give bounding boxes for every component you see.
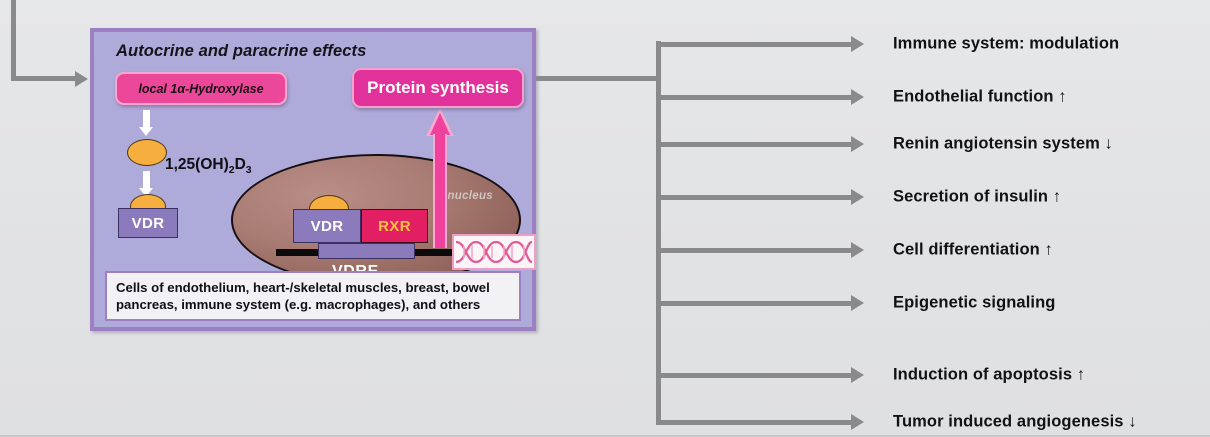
effect-branch-line [656, 142, 852, 147]
effect-branch-arrowhead [851, 136, 864, 152]
effect-branch-arrowhead [851, 414, 864, 430]
effect-branch-line [656, 420, 852, 425]
effect-label-5: Cell differentiation ↑ [893, 241, 1053, 260]
panel-output-line [536, 76, 660, 81]
effect-branch-arrowhead [851, 36, 864, 52]
input-connector-horizontal [11, 76, 77, 81]
dna-helix-icon [454, 236, 534, 268]
vdr-cytoplasm-box: VDR [118, 208, 178, 238]
diagram-canvas: Autocrine and paracrine effects local 1α… [0, 0, 1210, 437]
vdr-nucleus-box: VDR [293, 209, 361, 243]
protein-synthesis-label: Protein synthesis [367, 78, 509, 98]
effect-label-2: Endothelial function ↑ [893, 88, 1067, 107]
autocrine-paracrine-panel: Autocrine and paracrine effects local 1α… [90, 28, 536, 331]
effect-branch-arrowhead [851, 242, 864, 258]
protein-synthesis-box: Protein synthesis [352, 68, 524, 108]
effect-branch-arrowhead [851, 89, 864, 105]
effect-branch-line [656, 42, 852, 47]
arrow-to-protein-synthesis [426, 108, 454, 248]
input-connector-arrowhead [75, 71, 88, 87]
dna-helix-box [452, 234, 536, 270]
effect-label-7: Induction of apoptosis ↑ [893, 366, 1085, 385]
vdr-cytoplasm-label: VDR [132, 215, 165, 232]
effect-branch-arrowhead [851, 367, 864, 383]
effect-branch-arrowhead [851, 189, 864, 205]
hydroxylase-box: local 1α-Hydroxylase [115, 72, 287, 105]
effect-label-4: Secretion of insulin ↑ [893, 188, 1061, 207]
vdr-nucleus-label: VDR [311, 218, 344, 235]
effect-label-3: Renin angiotensin system ↓ [893, 135, 1113, 154]
calcitriol-label: 1,25(OH)2D3 [165, 156, 252, 176]
cell-types-caption: Cells of endothelium, heart-/skeletal mu… [105, 271, 521, 321]
rxr-box: RXR [361, 209, 428, 243]
input-connector-vertical [11, 0, 16, 81]
cell-types-line-2: pancreas, immune system (e.g. macrophage… [116, 296, 510, 313]
rxr-label: RXR [378, 218, 411, 235]
hydroxylase-label: local 1α-Hydroxylase [138, 82, 263, 96]
effect-branch-line [656, 301, 852, 306]
nucleus-label: nucleus [447, 190, 493, 202]
effect-branch-arrowhead [851, 295, 864, 311]
effect-branch-line [656, 373, 852, 378]
calcitriol-molecule-icon [127, 139, 167, 166]
cell-types-line-1: Cells of endothelium, heart-/skeletal mu… [116, 279, 510, 296]
vdre-element-bar [318, 243, 415, 259]
panel-title: Autocrine and paracrine effects [116, 42, 366, 61]
effect-label-8: Tumor induced angiogenesis ↓ [893, 413, 1137, 432]
effect-branch-line [656, 248, 852, 253]
effect-branch-line [656, 95, 852, 100]
effect-label-1: Immune system: modulation [893, 35, 1119, 54]
arrow-hydroxylase-to-calcitriol [139, 110, 154, 136]
effect-branch-line [656, 195, 852, 200]
effect-label-6: Epigenetic signaling [893, 294, 1055, 313]
